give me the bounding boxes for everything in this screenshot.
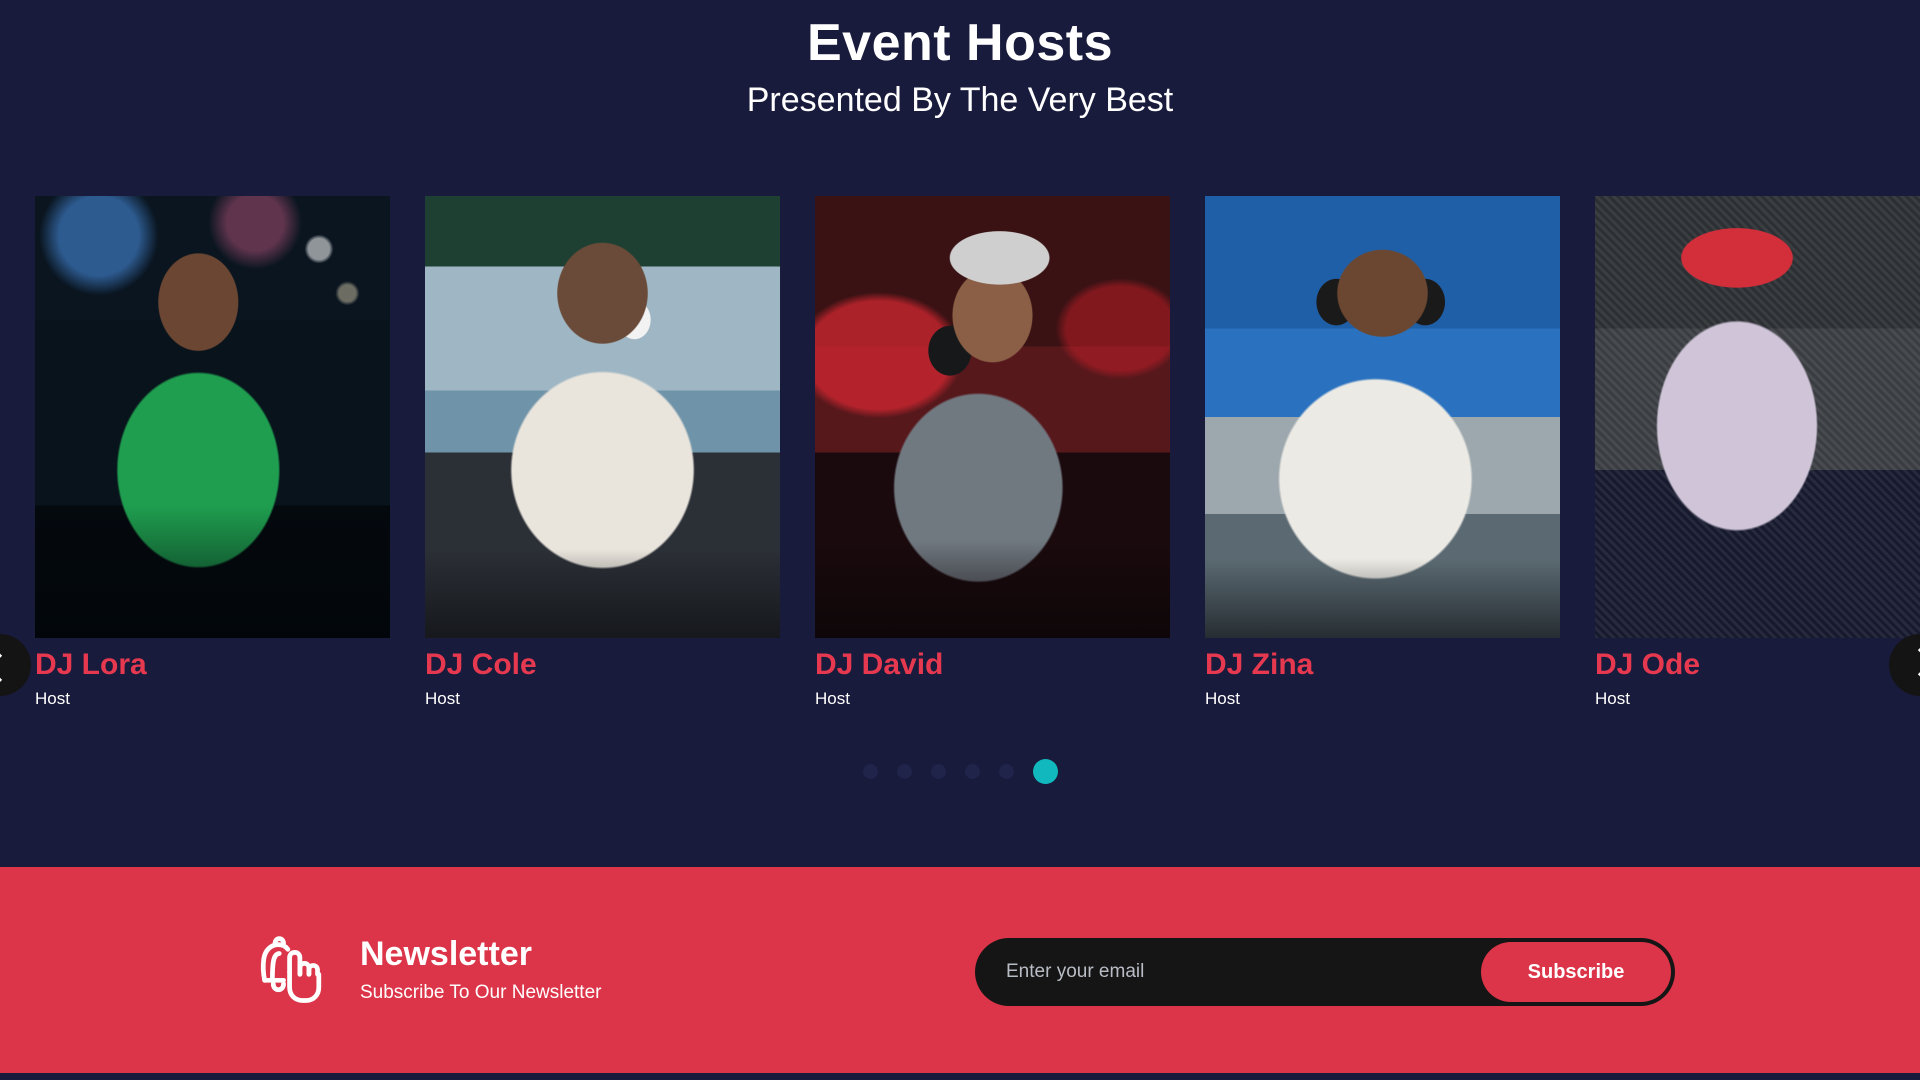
hosts-carousel: DJ OdeHost DJ LoraHost DJ ColeHost DJ Da… <box>0 196 1920 636</box>
host-card[interactable]: DJ ZinaHost <box>1205 196 1560 636</box>
email-input[interactable] <box>979 942 1481 1002</box>
carousel-dot[interactable] <box>931 764 946 779</box>
subscribe-button[interactable]: Subscribe <box>1481 942 1671 1002</box>
host-card[interactable]: DJ LoraHost <box>35 196 390 636</box>
host-role: Host <box>1595 690 1920 709</box>
newsletter-title: Newsletter <box>360 936 601 973</box>
host-card[interactable]: DJ ColeHost <box>425 196 780 636</box>
chevron-right-icon <box>1906 648 1920 676</box>
carousel-dot[interactable] <box>965 764 980 779</box>
host-role: Host <box>815 690 1170 709</box>
newsletter-subtitle: Subscribe To Our Newsletter <box>360 983 601 1004</box>
host-name: DJ Ode <box>1595 648 1920 681</box>
host-photo <box>425 196 780 638</box>
carousel-dot[interactable] <box>999 764 1014 779</box>
page-subtitle: Presented By The Very Best <box>0 80 1920 121</box>
carousel-pagination[interactable] <box>0 759 1920 784</box>
host-photo <box>815 196 1170 638</box>
host-photo <box>1595 196 1920 638</box>
carousel-dot[interactable] <box>863 764 878 779</box>
host-photo <box>35 196 390 638</box>
host-card[interactable]: DJ OdeHost <box>1595 196 1920 636</box>
carousel-dot[interactable] <box>897 764 912 779</box>
host-role: Host <box>35 690 390 709</box>
host-name: DJ David <box>815 648 1170 681</box>
host-photo <box>1205 196 1560 638</box>
host-name: DJ Cole <box>425 648 780 681</box>
host-card[interactable]: DJ DavidHost <box>815 196 1170 636</box>
host-role: Host <box>1205 690 1560 709</box>
hosts-header: Event Hosts Presented By The Very Best <box>0 0 1920 121</box>
newsletter-form: Subscribe <box>975 938 1675 1006</box>
host-role: Host <box>425 690 780 709</box>
chevron-left-icon <box>0 654 14 682</box>
bell-hand-tap-icon <box>244 927 330 1013</box>
page-title: Event Hosts <box>0 14 1920 74</box>
host-name: DJ Zina <box>1205 648 1560 681</box>
carousel-prev-button[interactable] <box>0 634 31 696</box>
carousel-dot-active[interactable] <box>1033 759 1058 784</box>
carousel-track[interactable]: DJ OdeHost DJ LoraHost DJ ColeHost DJ Da… <box>0 196 1920 636</box>
host-name: DJ Lora <box>35 648 390 681</box>
